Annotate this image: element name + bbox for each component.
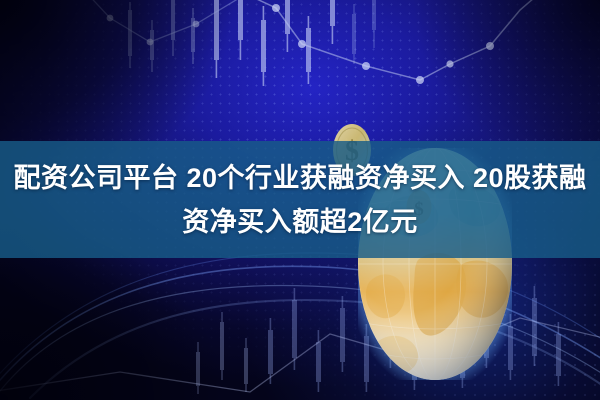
headline-band: 配资公司平台 20个行业获融资净买入 20股获融 资净买入额超2亿元 — [0, 141, 600, 258]
headline-line-1: 配资公司平台 20个行业获融资净买入 20股获融 — [13, 156, 586, 200]
banner-image: $ $ 配资公司平台 20个行业获融资净买入 20股获融 资净买入额超2亿元 — [0, 0, 600, 400]
headline-line-2: 资净买入额超2亿元 — [182, 200, 418, 244]
